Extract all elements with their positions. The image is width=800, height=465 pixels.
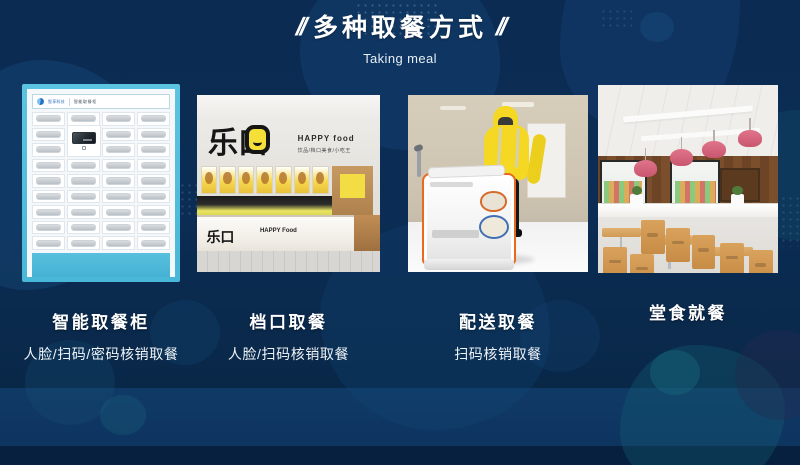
counter-ceiling (197, 95, 380, 120)
flower-icon (635, 188, 639, 191)
locker-door (106, 240, 131, 247)
locker-door-cell[interactable] (102, 205, 135, 219)
page-subtitle: Taking meal (0, 51, 800, 66)
sign-tagline-text: 饮品/档口美食/小吃王 (298, 147, 355, 154)
locker-header-label: 智能取餐柜 (74, 99, 97, 105)
counter-shelf (197, 196, 332, 217)
locker-door (106, 162, 131, 169)
lamp-shade (738, 130, 761, 147)
locker-door-cell[interactable] (67, 236, 100, 250)
card-smart-locker[interactable]: 智享科技 智能取餐柜 (22, 84, 180, 282)
locker-door (141, 162, 166, 169)
locker-door (106, 146, 131, 153)
delivery-robot (422, 173, 516, 265)
counter-photo: 乐口 HAPPY food 饮品/档口美食/小吃王 (197, 95, 380, 272)
pendant-lamp (634, 160, 657, 177)
caption-smart-locker: 智能取餐柜 人脸/扫码/密码核销取餐 (22, 308, 180, 364)
pendant-lamp (670, 149, 693, 166)
counter-floor (197, 251, 380, 272)
menu-item-photo (256, 166, 273, 194)
lamp-shade (634, 160, 657, 177)
locker-door-cell[interactable] (67, 205, 100, 219)
desk-logo-text: 乐口 (206, 227, 234, 247)
locker-door-cell[interactable] (32, 236, 65, 250)
locker-door-cell[interactable] (32, 221, 65, 235)
locker-door-cell[interactable] (137, 159, 170, 173)
dining-chair (720, 243, 743, 273)
locker-door-cell[interactable] (67, 190, 100, 204)
dining-chair (749, 250, 772, 273)
locker-door (106, 193, 131, 200)
kiosk-keypad-icon[interactable] (82, 146, 86, 151)
locker-door-cell[interactable] (67, 174, 100, 188)
menu-item-photo (275, 166, 292, 194)
locker-door-cell[interactable] (67, 221, 100, 235)
counter-service-desk: 乐口 HAPPY Food (197, 215, 354, 254)
robot-top-bar (430, 182, 473, 187)
locker-door (36, 177, 61, 184)
locker-door-cell[interactable] (137, 236, 170, 250)
display-fridge (670, 160, 720, 209)
robot-base (424, 259, 514, 270)
locker-door-cell[interactable] (32, 205, 65, 219)
slide-root: // 多种取餐方式 // Taking meal 智享科技 智能取餐柜 (0, 0, 800, 465)
robot-slot (432, 230, 479, 238)
locker-door-cell[interactable] (32, 159, 65, 173)
logo-yellow-square-icon (245, 125, 270, 154)
locker-door (106, 224, 131, 231)
locker-door-cell[interactable] (32, 143, 65, 157)
card-subtitle: 扫码核销取餐 (408, 344, 588, 364)
locker-door-cell[interactable] (137, 128, 170, 142)
locker-door-cell[interactable] (137, 205, 170, 219)
card-title: 档口取餐 (197, 308, 380, 333)
dining-chair (692, 235, 715, 269)
ceiling-light (440, 106, 465, 110)
locker-kiosk-panel[interactable] (67, 125, 102, 157)
locker-door (106, 115, 131, 122)
menu-item-photo (238, 166, 255, 194)
counter-illustration: 乐口 HAPPY food 饮品/档口美食/小吃王 (197, 95, 380, 272)
card-subtitle: 人脸/扫码/密码核销取餐 (22, 344, 180, 364)
locker-door (36, 240, 61, 247)
card-stall-counter[interactable]: 乐口 HAPPY food 饮品/档口美食/小吃王 (197, 95, 380, 272)
card-title: 堂食就餐 (598, 299, 778, 324)
locker-door (141, 209, 166, 216)
flower-pot-icon (630, 194, 643, 207)
locker-door-cell[interactable] (102, 143, 135, 157)
locker-header-bar: 智享科技 智能取餐柜 (32, 94, 170, 109)
counter-wall-logo: 乐口 (208, 123, 270, 162)
dinein-counter-top (598, 203, 778, 216)
locker-door (71, 162, 96, 169)
locker-door-cell[interactable] (137, 143, 170, 157)
kiosk-screen[interactable] (72, 132, 96, 144)
locker-door (36, 224, 61, 231)
locker-door (141, 131, 166, 138)
dining-table (602, 228, 642, 237)
dinein-illustration (598, 85, 778, 273)
locker-door (71, 177, 96, 184)
locker-door-cell[interactable] (102, 174, 135, 188)
lamp-shade (670, 149, 693, 166)
locker-door (71, 193, 96, 200)
locker-door-cell[interactable] (137, 190, 170, 204)
card-dine-in[interactable]: 堂食就餐 (598, 85, 778, 273)
dining-chair (666, 228, 689, 262)
locker-door (36, 162, 61, 169)
menu-item-photo (312, 166, 329, 194)
locker-door-cell[interactable] (102, 128, 135, 142)
locker-door-grid (32, 109, 170, 253)
menu-item-photo (294, 166, 311, 194)
card-delivery-robot[interactable]: 配送取餐 扫码核销取餐 (408, 95, 588, 272)
locker-door (71, 240, 96, 247)
locker-brand-text: 智享科技 (48, 99, 65, 105)
caption-delivery-robot: 配送取餐 扫码核销取餐 (408, 308, 588, 364)
page-title: 多种取餐方式 (313, 14, 487, 42)
divider (69, 98, 70, 106)
locker-base (32, 253, 170, 277)
locker-door (141, 240, 166, 247)
locker-door (36, 193, 61, 200)
desk-english-text: HAPPY Food (260, 228, 297, 235)
dinein-photo (598, 85, 778, 273)
locker-door (141, 115, 166, 122)
locker-door-cell[interactable] (137, 221, 170, 235)
flower-pot-icon (731, 194, 744, 207)
courier-backpack-strap (497, 127, 520, 167)
locker-door-cell[interactable] (137, 174, 170, 188)
locker-cabinet-illustration: 智享科技 智能取餐柜 (22, 84, 180, 282)
counter-wood-wall (351, 215, 380, 254)
counter-english-sign: HAPPY food 饮品/档口美食/小吃王 (298, 134, 355, 154)
locker-door-cell[interactable] (67, 159, 100, 173)
locker-door-cell[interactable] (67, 112, 100, 126)
locker-door-cell[interactable] (102, 112, 135, 126)
robot-illustration (408, 95, 588, 272)
sign-english-text: HAPPY food (298, 134, 355, 143)
locker-door-cell[interactable] (102, 236, 135, 250)
robot-sticker-icon (480, 191, 506, 211)
robot-sticker-icon (479, 215, 509, 239)
locker-door (71, 209, 96, 216)
dining-chair (641, 220, 664, 254)
caption-dine-in: 堂食就餐 (598, 299, 778, 335)
decor-blob (100, 395, 146, 435)
card-subtitle: 人脸/扫码核销取餐 (197, 344, 380, 364)
locker-door (36, 131, 61, 138)
pendant-lamp (738, 130, 761, 147)
locker-door-cell[interactable] (32, 112, 65, 126)
menu-item-photo (219, 166, 236, 194)
locker-door (36, 115, 61, 122)
page-header: // 多种取餐方式 // Taking meal (0, 14, 800, 66)
caption-stall-counter: 档口取餐 人脸/扫码核销取餐 (197, 308, 380, 364)
robot-antenna-icon (417, 149, 421, 177)
locker-door-cell[interactable] (102, 190, 135, 204)
locker-door-cell[interactable] (32, 174, 65, 188)
robot-photo (408, 95, 588, 272)
locker-door (36, 209, 61, 216)
slash-left-decoration: // (295, 15, 305, 40)
locker-photo: 智享科技 智能取餐柜 (22, 84, 180, 282)
counter-menu-board (201, 166, 329, 194)
card-title: 智能取餐柜 (22, 308, 180, 333)
locker-door-cell[interactable] (102, 159, 135, 173)
brand-logo-icon (37, 98, 44, 105)
locker-door-cell[interactable] (102, 221, 135, 235)
locker-door-cell[interactable] (32, 190, 65, 204)
menu-item-photo (201, 166, 218, 194)
locker-door-cell[interactable] (137, 112, 170, 126)
locker-cabinet-body: 智享科技 智能取餐柜 (27, 89, 175, 277)
locker-door (106, 177, 131, 184)
locker-door (141, 146, 166, 153)
locker-door-cell[interactable] (32, 128, 65, 142)
dining-chair (630, 254, 653, 273)
pendant-lamp (702, 141, 725, 158)
locker-door (106, 131, 131, 138)
dining-chair (603, 247, 626, 273)
locker-door (71, 224, 96, 231)
locker-door (141, 224, 166, 231)
locker-door (71, 115, 96, 122)
locker-door (106, 209, 131, 216)
locker-door (141, 193, 166, 200)
cards-row: 智享科技 智能取餐柜 (0, 84, 800, 384)
lamp-shade (702, 141, 725, 158)
locker-door (141, 177, 166, 184)
locker-door (36, 146, 61, 153)
card-title: 配送取餐 (408, 308, 588, 333)
title-row: // 多种取餐方式 // (0, 14, 800, 42)
slash-right-decoration: // (495, 15, 505, 40)
flower-icon (735, 188, 739, 191)
